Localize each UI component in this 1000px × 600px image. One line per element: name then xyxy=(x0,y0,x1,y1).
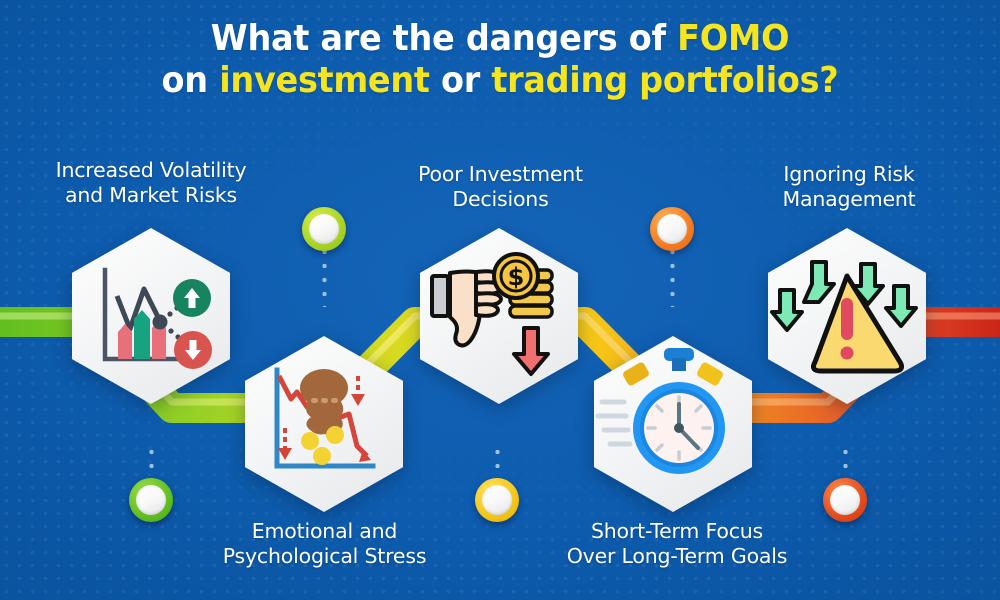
label-increased-volatility: Increased Volatility and Market Risks xyxy=(11,158,291,208)
volatility-chart-icon xyxy=(72,228,230,404)
up-badge xyxy=(173,279,211,317)
thumbs-down-hand xyxy=(432,271,501,345)
marker-core xyxy=(830,485,860,515)
page-title: What are the dangers of FOMO on investme… xyxy=(0,18,1000,102)
label-line-1: Ignoring Risk xyxy=(783,162,914,186)
title-line2-text-b: or xyxy=(430,60,492,101)
label-line-2: Management xyxy=(782,187,915,211)
marker-core xyxy=(309,214,339,244)
marker-core xyxy=(482,485,512,515)
hexagon-card-short-term[interactable] xyxy=(594,336,752,512)
hexagon-card-poor-decisions[interactable]: $ xyxy=(420,228,578,404)
svg-text:$: $ xyxy=(508,263,525,291)
dotted-connector-2 xyxy=(322,245,327,307)
title-line2-text-a: on xyxy=(162,60,220,101)
thumbs-down-coins-icon: $ xyxy=(420,228,578,404)
marker-core xyxy=(136,485,166,515)
label-line-1: Emotional and xyxy=(252,519,397,543)
hexagon-card-stress[interactable] xyxy=(245,336,403,512)
label-emotional-stress: Emotional and Psychological Stress xyxy=(182,519,467,569)
hexagon-card-volatility[interactable] xyxy=(72,228,230,404)
down-arrow xyxy=(514,328,548,374)
title-highlight-investment: investment xyxy=(219,60,429,101)
title-line1-text: What are the dangers of xyxy=(211,18,677,59)
label-line-1: Increased Volatility xyxy=(56,158,247,182)
dotted-connector-4 xyxy=(670,245,675,307)
marker-step-4[interactable] xyxy=(650,207,694,251)
warning-triangle-arrows-icon xyxy=(768,228,926,404)
label-line-2: Psychological Stress xyxy=(223,544,427,568)
crown xyxy=(664,348,694,371)
label-poor-investment: Poor Investment Decisions xyxy=(368,162,633,212)
label-ignoring-risk: Ignoring Risk Management xyxy=(718,162,980,212)
down-badge xyxy=(174,331,212,369)
bear-market-stress-icon xyxy=(245,336,403,512)
title-highlight-fomo: FOMO xyxy=(677,18,789,59)
label-line-1: Short-Term Focus xyxy=(591,519,763,543)
label-line-2: Over Long-Term Goals xyxy=(567,544,788,568)
hexagon-card-ignoring-risk[interactable] xyxy=(768,228,926,404)
label-short-term-focus: Short-Term Focus Over Long-Term Goals xyxy=(532,519,822,569)
motion-lines xyxy=(598,402,630,444)
marker-core xyxy=(657,214,687,244)
marker-step-3[interactable] xyxy=(475,478,519,522)
stopwatch-icon xyxy=(594,336,752,512)
dollar-coin: $ xyxy=(494,254,538,298)
title-question-mark: ? xyxy=(819,60,838,101)
marker-step-2[interactable] xyxy=(302,207,346,251)
label-line-2: and Market Risks xyxy=(65,183,237,207)
label-line-1: Poor Investment xyxy=(418,162,583,186)
marker-step-1[interactable] xyxy=(129,478,173,522)
label-line-2: Decisions xyxy=(452,187,548,211)
marker-step-5[interactable] xyxy=(823,478,867,522)
title-highlight-trading: trading portfolios xyxy=(491,60,819,101)
